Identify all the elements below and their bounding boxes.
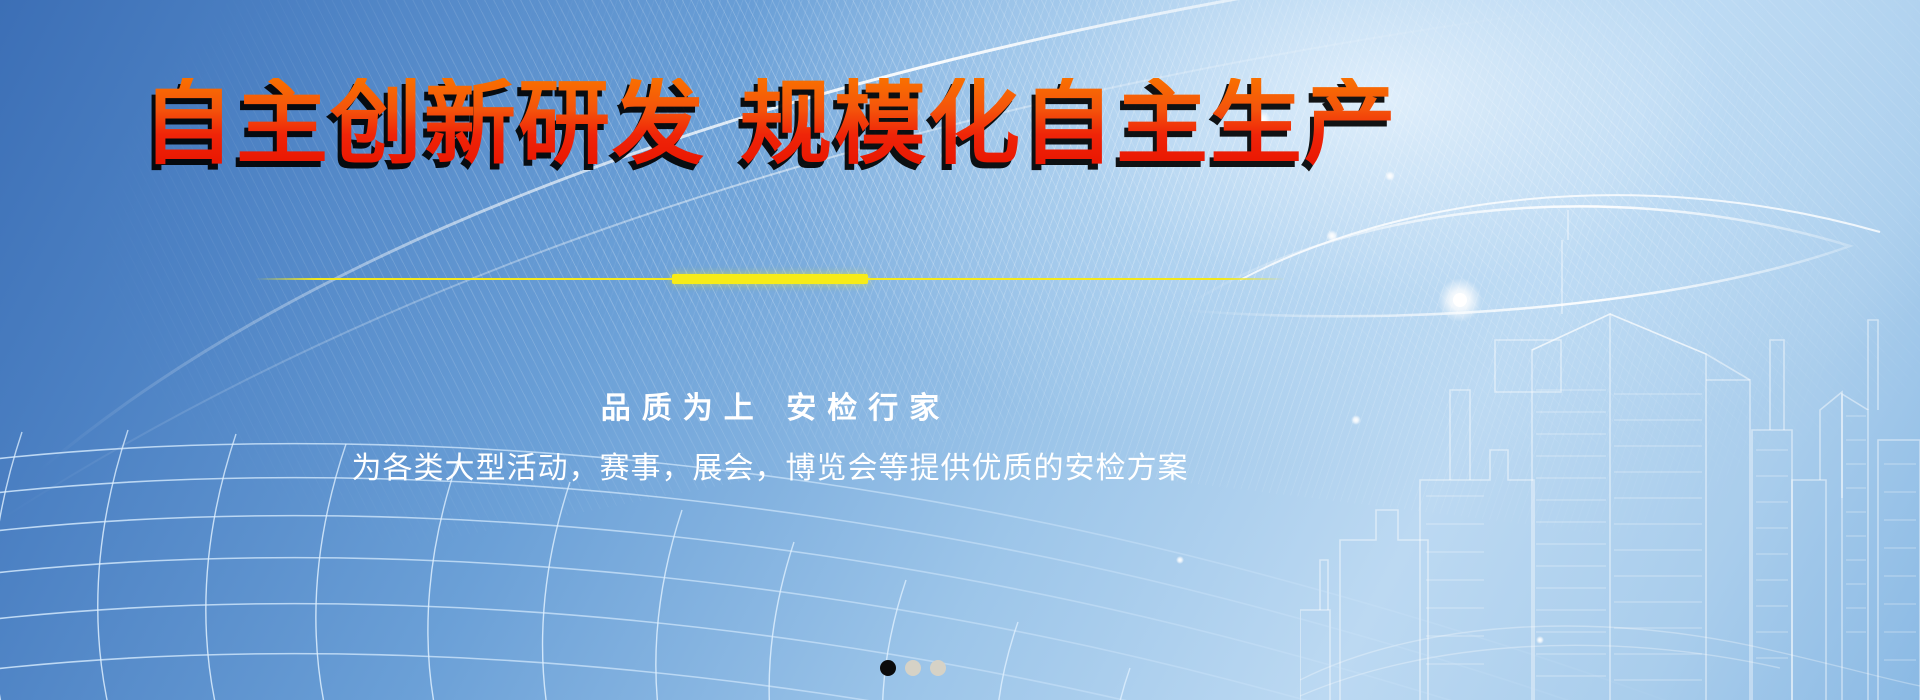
page-title: 自主创新研发 规模化自主生产 <box>0 78 1540 170</box>
subtitle-description: 为各类大型活动，赛事，展会，博览会等提供优质的安检方案 <box>0 443 1540 487</box>
carousel-dot-2[interactable] <box>905 660 921 676</box>
carousel-dot-1[interactable] <box>880 660 896 676</box>
banner-content: 自主创新研发 规模化自主生产 品质为上 安检行家 为各类大型活动，赛事，展会，博… <box>0 0 1920 700</box>
divider-thick-segment <box>672 274 868 284</box>
carousel-dot-3[interactable] <box>930 660 946 676</box>
hero-banner: 自主创新研发 规模化自主生产 品质为上 安检行家 为各类大型活动，赛事，展会，博… <box>0 0 1920 700</box>
carousel-pagination[interactable] <box>880 658 960 678</box>
tagline: 品质为上 安检行家 <box>0 383 1540 427</box>
title-divider <box>255 274 1285 284</box>
